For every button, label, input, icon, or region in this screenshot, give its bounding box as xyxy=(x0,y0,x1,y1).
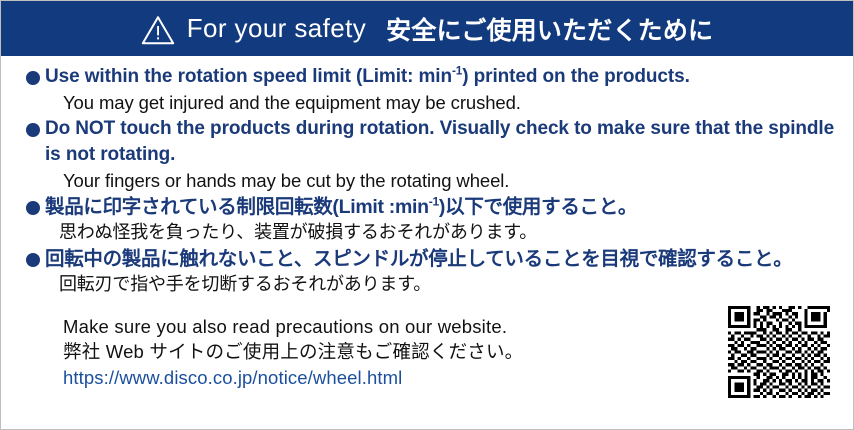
bullet-dot-icon xyxy=(26,253,40,267)
website-notice-ja: 弊社 Web サイトのご使用上の注意もご確認ください。 xyxy=(63,339,837,365)
bullet-item: Use within the rotation speed limit (Lim… xyxy=(19,64,837,115)
bullet-sub-text: Your fingers or hands may be cut by the … xyxy=(63,168,837,193)
notice-body: Use within the rotation speed limit (Lim… xyxy=(1,56,853,391)
header-bar: For your safety 安全にご使用いただくために xyxy=(1,1,853,56)
bullet-item: 製品に印字されている制限回転数(Limit :min-1)以下で使用すること。 … xyxy=(19,194,837,245)
bullet-sub-text: 回転刃で指や手を切断するおそれがあります。 xyxy=(59,272,837,297)
website-notice-block: Make sure you also read precautions on o… xyxy=(63,314,837,391)
bullet-main-pre: Use within the rotation speed limit (Lim… xyxy=(45,66,452,87)
bullet-dot-icon xyxy=(26,71,40,85)
bullet-main-pre: 回転中の製品に触れないこと、スピンドルが停止していることを目視で確認すること。 xyxy=(45,248,792,270)
bullet-sub-text: You may get injured and the equipment ma… xyxy=(63,90,837,115)
bullet-item: Do NOT touch the products during rotatio… xyxy=(19,116,837,193)
bullet-item: 回転中の製品に触れないこと、スピンドルが停止していることを目視で確認すること。 … xyxy=(19,246,837,297)
safety-notice-panel: For your safety 安全にご使用いただくために Use within… xyxy=(0,0,854,430)
bullet-dot-icon xyxy=(26,123,40,137)
bullet-headline: 回転中の製品に触れないこと、スピンドルが停止していることを目視で確認すること。 xyxy=(19,246,837,272)
qr-code-image xyxy=(728,301,830,403)
header-title-en: For your safety xyxy=(187,13,366,44)
bullet-main-superscript: -1 xyxy=(429,195,439,209)
bullet-main-post: ) printed on the products. xyxy=(462,66,690,87)
qr-code[interactable] xyxy=(728,301,830,403)
bullet-headline: 製品に印字されている制限回転数(Limit :min-1)以下で使用すること。 xyxy=(19,194,837,220)
bullet-main-text: 製品に印字されている制限回転数(Limit :min-1)以下で使用すること。 xyxy=(45,194,637,220)
bullet-headline: Use within the rotation speed limit (Lim… xyxy=(19,64,837,90)
bullet-main-text: 回転中の製品に触れないこと、スピンドルが停止していることを目視で確認すること。 xyxy=(45,246,792,272)
bullet-main-pre: Do NOT touch the products during rotatio… xyxy=(45,118,834,165)
bullet-main-text: Use within the rotation speed limit (Lim… xyxy=(45,64,690,90)
bullet-dot-icon xyxy=(26,201,40,215)
bullet-sub-text: 思わぬ怪我を負ったり、装置が破損するおそれがあります。 xyxy=(59,220,837,245)
website-url-link[interactable]: https://www.disco.co.jp/notice/wheel.htm… xyxy=(63,365,402,391)
bullet-main-pre: 製品に印字されている制限回転数(Limit :min xyxy=(45,196,429,218)
bullet-main-superscript: -1 xyxy=(452,65,462,78)
website-notice-en: Make sure you also read precautions on o… xyxy=(63,314,837,339)
bullet-main-post: )以下で使用すること。 xyxy=(439,196,637,218)
bullet-main-text: Do NOT touch the products during rotatio… xyxy=(45,116,837,168)
header-title-ja: 安全にご使用いただくために xyxy=(386,11,713,47)
warning-triangle-icon xyxy=(141,13,175,45)
bullet-headline: Do NOT touch the products during rotatio… xyxy=(19,116,837,168)
